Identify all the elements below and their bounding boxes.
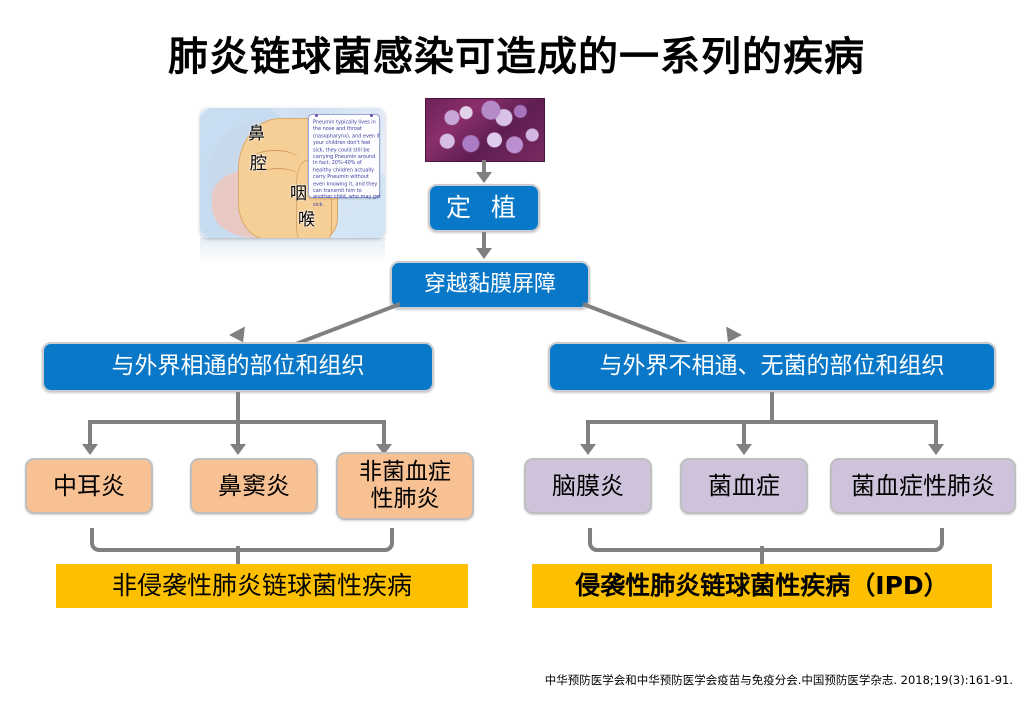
- connector-bracket-to-invasive-summary: [760, 546, 764, 564]
- disease-label-otitis-media: 中耳炎: [53, 472, 125, 500]
- disease-label-nonbacteremic-pneumonia: 非菌血症 性肺炎: [359, 459, 451, 513]
- collector-bracket-non-invasive: [90, 528, 394, 552]
- flow-box-cross-barrier-label: 穿越黏膜屏障: [424, 272, 556, 298]
- label-throat-2: 喉: [298, 212, 315, 229]
- streptococcus-pneumoniae-micrograph: [425, 98, 545, 162]
- connector-right-branch-stem: [770, 392, 774, 420]
- disease-box-bacteremic-pneumonia[interactable]: 菌血症性肺炎: [830, 458, 1016, 514]
- flow-box-branch-left-label: 与外界相通的部位和组织: [112, 353, 365, 380]
- summary-box-non-invasive[interactable]: 非侵袭性肺炎链球菌性疾病: [56, 564, 468, 608]
- flow-box-branch-right-label: 与外界不相通、无菌的部位和组织: [600, 353, 945, 380]
- arrowhead-to-colonization: [476, 172, 492, 183]
- arrowhead-meningitis: [580, 444, 596, 455]
- disease-label-bacteremia: 菌血症: [708, 472, 780, 500]
- disease-box-nonbacteremic-pneumonia[interactable]: 非菌血症 性肺炎: [336, 452, 474, 520]
- page-title: 肺炎链球菌感染可造成的一系列的疾病: [0, 24, 1033, 82]
- disease-box-otitis-media[interactable]: 中耳炎: [25, 458, 153, 514]
- summary-label-non-invasive: 非侵袭性肺炎链球菌性疾病: [112, 571, 412, 601]
- info-callout: Pneumin typically lives in the nose and …: [308, 114, 380, 198]
- label-nasal-1: 鼻: [248, 126, 265, 143]
- slide-canvas: 肺炎链球菌感染可造成的一系列的疾病 鼻 腔 咽 喉 Pneumin typica…: [0, 0, 1033, 710]
- arrowhead-to-barrier: [476, 248, 492, 259]
- callout-text: Pneumin typically lives in the nose and …: [313, 119, 381, 208]
- disease-box-sinusitis[interactable]: 鼻窦炎: [190, 458, 318, 514]
- flow-box-branch-right[interactable]: 与外界不相通、无菌的部位和组织: [548, 342, 996, 392]
- flow-box-branch-left[interactable]: 与外界相通的部位和组织: [42, 342, 434, 392]
- distributor-bus-right: [586, 420, 938, 424]
- collector-bracket-invasive: [588, 528, 944, 552]
- flow-box-colonization[interactable]: 定 植: [428, 184, 540, 232]
- connector-bracket-to-noninvasive-summary: [236, 546, 240, 564]
- nasopharynx-anatomy-image: 鼻 腔 咽 喉 Pneumin typically lives in the n…: [200, 108, 385, 238]
- arrowhead-sinusitis: [230, 444, 246, 455]
- disease-label-bacteremic-pneumonia: 菌血症性肺炎: [851, 472, 995, 500]
- callout-pin-right: [370, 114, 373, 117]
- citation: 中华预防医学会和中华预防医学会疫苗与免疫分会.中国预防医学杂志. 2018;19…: [0, 672, 1013, 688]
- disease-box-meningitis[interactable]: 脑膜炎: [524, 458, 652, 514]
- flow-box-cross-barrier[interactable]: 穿越黏膜屏障: [390, 261, 590, 309]
- connector-left-branch-stem: [236, 392, 240, 420]
- summary-box-invasive[interactable]: 侵袭性肺炎链球菌性疾病（IPD）: [532, 564, 992, 608]
- label-throat-1: 咽: [290, 186, 307, 203]
- flow-box-colonization-label: 定 植: [446, 193, 522, 223]
- disease-box-bacteremia[interactable]: 菌血症: [680, 458, 808, 514]
- illustration-reflection: [200, 238, 385, 264]
- label-nasal-2: 腔: [250, 156, 267, 173]
- disease-label-meningitis: 脑膜炎: [552, 472, 624, 500]
- arrowhead-bact-pneumonia: [928, 444, 944, 455]
- summary-label-invasive: 侵袭性肺炎链球菌性疾病（IPD）: [575, 571, 948, 601]
- disease-label-sinusitis: 鼻窦炎: [218, 472, 290, 500]
- callout-pin-left: [315, 114, 318, 117]
- arrowhead-bacteremia: [736, 444, 752, 455]
- arrowhead-otitis: [82, 444, 98, 455]
